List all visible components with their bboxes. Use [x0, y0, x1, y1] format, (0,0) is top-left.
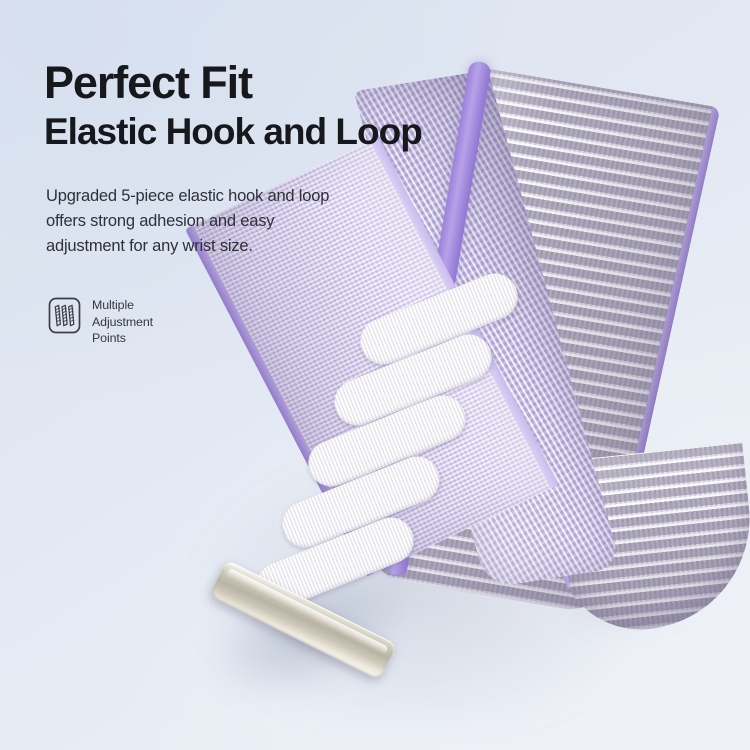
body-copy-line-1: Upgraded 5-piece elastic hook and loop: [46, 184, 376, 209]
feature-badge-label-line-3: Points: [92, 330, 153, 347]
feature-badge-label: Multiple Adjustment Points: [92, 297, 153, 347]
copy-block: Perfect Fit Elastic Hook and Loop Upgrad…: [44, 58, 464, 259]
feature-badge-multiple-adjustment-points: Multiple Adjustment Points: [48, 297, 153, 347]
feature-badge-label-line-2: Adjustment: [92, 314, 153, 331]
body-copy-line-3: adjustment for any wrist size.: [46, 234, 376, 259]
adjustment-strips-icon: [48, 297, 81, 334]
feature-badge-label-line-1: Multiple: [92, 297, 153, 314]
product-banner: Perfect Fit Elastic Hook and Loop Upgrad…: [0, 0, 750, 750]
headline-line-1: Perfect Fit: [44, 58, 464, 108]
body-copy: Upgraded 5-piece elastic hook and loop o…: [46, 184, 376, 259]
headline-line-2: Elastic Hook and Loop: [44, 110, 464, 154]
body-copy-line-2: offers strong adhesion and easy: [46, 209, 376, 234]
